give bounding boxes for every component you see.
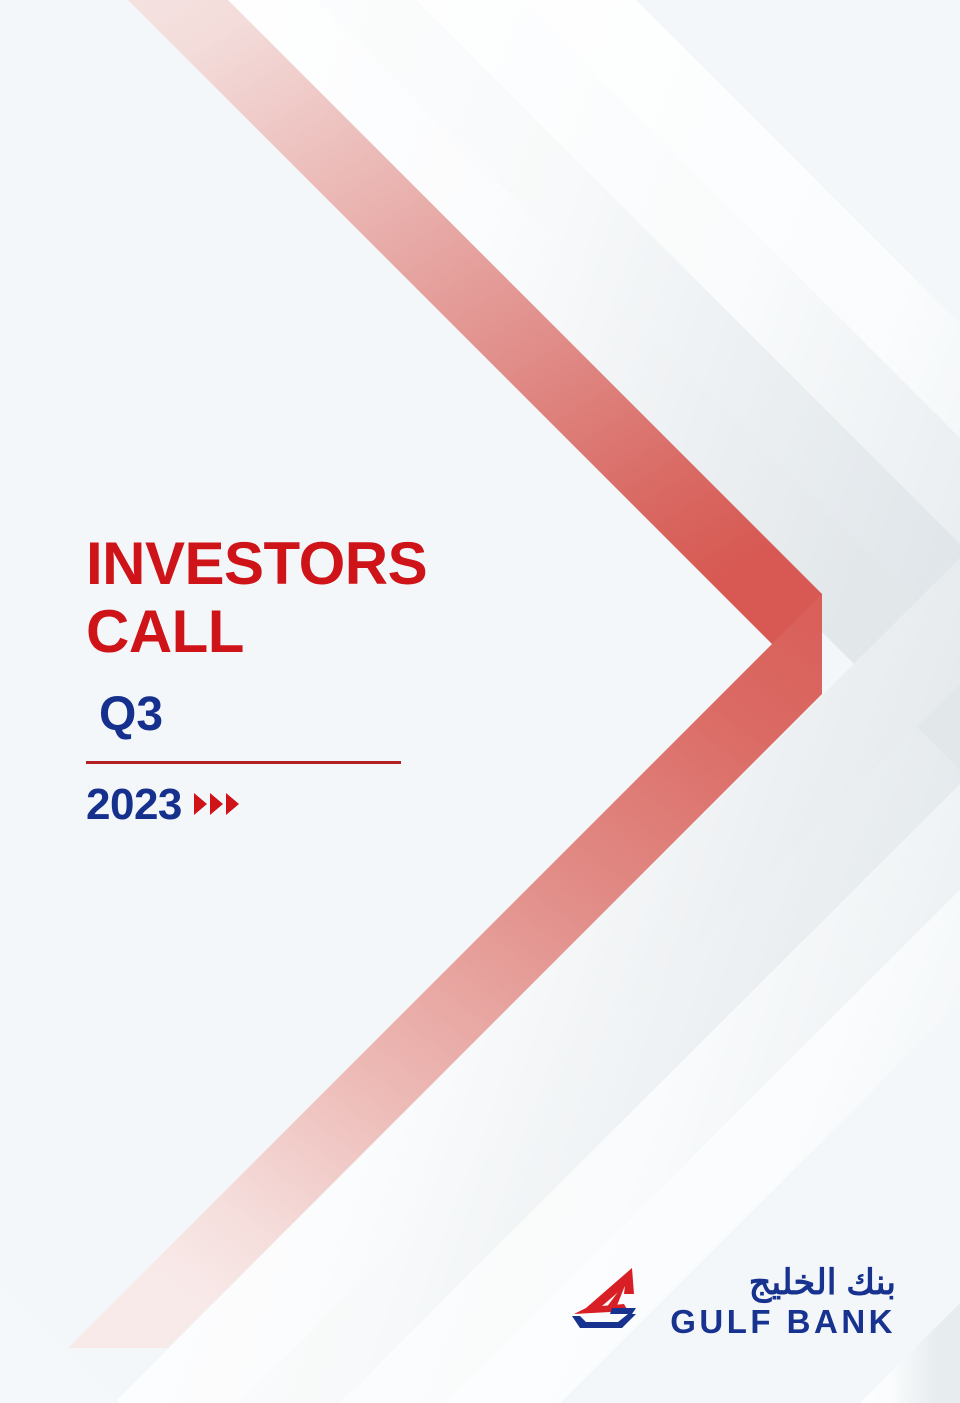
year-row: 2023 <box>86 783 506 827</box>
title-divider <box>86 761 401 764</box>
page-title: INVESTORS CALL <box>86 530 506 667</box>
chevron-right-icon <box>194 793 207 815</box>
gulf-bank-logo: بنك الخليج GULF BANK <box>566 1262 896 1348</box>
logo-english-name: GULF BANK <box>670 1302 896 1342</box>
cover-page: INVESTORS CALL Q3 2023 <box>0 0 960 1403</box>
chevron-right-icon <box>226 793 239 815</box>
arrow-group-icon <box>194 793 239 817</box>
logo-arabic-name: بنك الخليج <box>749 1262 896 1304</box>
chevron-right-icon <box>210 793 223 815</box>
quarter-label: Q3 <box>86 667 506 739</box>
gulf-bank-dhow-icon <box>566 1264 646 1336</box>
year-label: 2023 <box>86 783 182 827</box>
cover-title-block: INVESTORS CALL Q3 2023 <box>86 530 506 827</box>
gulf-bank-wordmark: بنك الخليج GULF BANK <box>644 1262 896 1344</box>
